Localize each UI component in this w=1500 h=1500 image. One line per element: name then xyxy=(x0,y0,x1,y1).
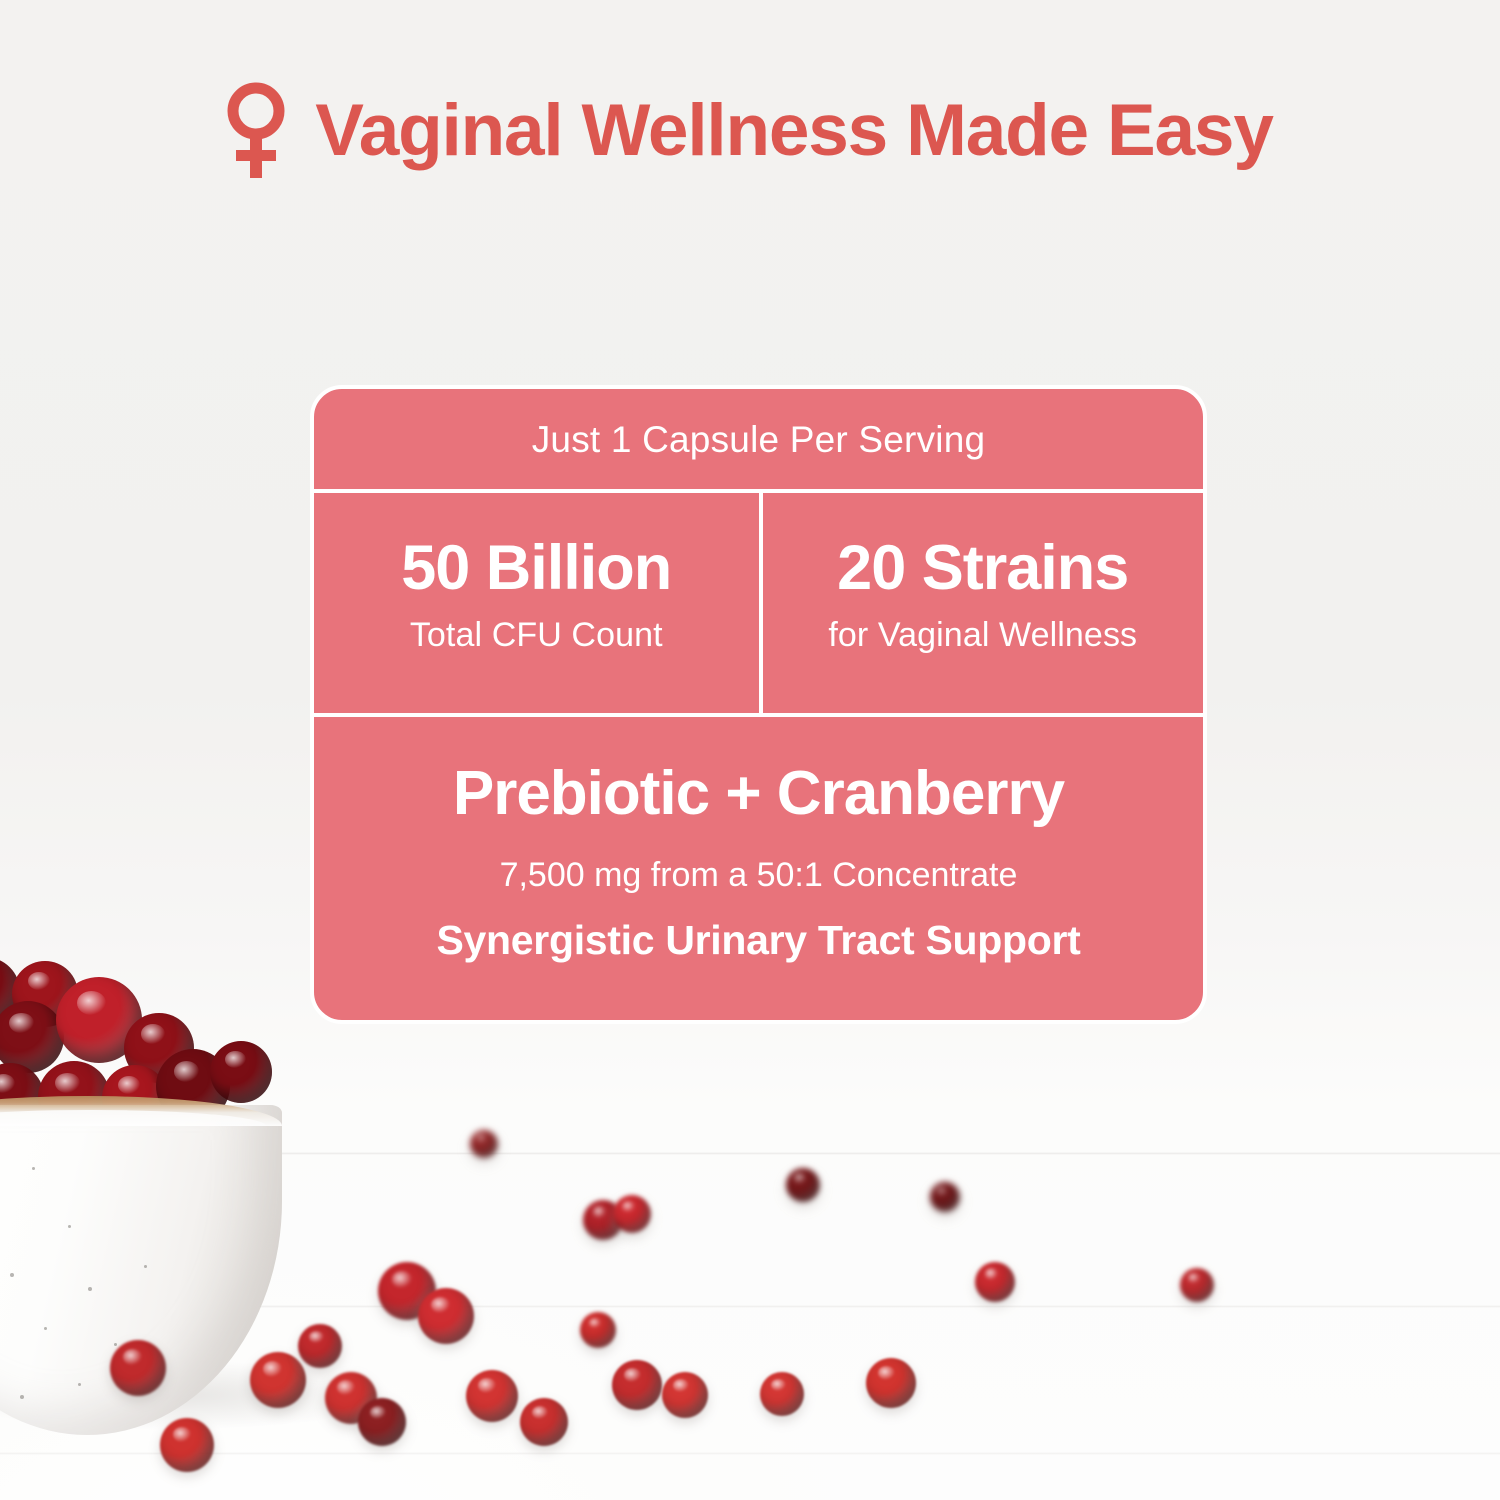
highlight-row: Prebiotic + Cranberry 7,500 mg from a 50… xyxy=(314,717,1203,1020)
highlight-subtitle: 7,500 mg from a 50:1 Concentrate xyxy=(338,856,1179,895)
highlight-title: Prebiotic + Cranberry xyxy=(338,761,1179,828)
highlight-emphasis: Synergistic Urinary Tract Support xyxy=(338,917,1179,964)
cranberry xyxy=(520,1398,568,1446)
cranberry xyxy=(580,1312,616,1348)
cranberry xyxy=(358,1398,406,1446)
cranberry xyxy=(760,1372,804,1416)
cranberry xyxy=(160,1418,214,1472)
cranberry xyxy=(466,1370,518,1422)
cranberry xyxy=(298,1324,342,1368)
cranberry xyxy=(418,1288,474,1344)
page-heading: Vaginal Wellness Made Easy xyxy=(0,82,1500,178)
cranberry xyxy=(110,1340,166,1396)
cranberry xyxy=(786,1168,820,1202)
stat-label: for Vaginal Wellness xyxy=(781,616,1186,655)
cranberry xyxy=(250,1352,306,1408)
cranberry xyxy=(866,1358,916,1408)
page-title: Vaginal Wellness Made Easy xyxy=(315,94,1272,167)
stat-value: 20 Strains xyxy=(781,535,1186,602)
cranberry xyxy=(612,1360,662,1410)
cranberry xyxy=(662,1372,708,1418)
serving-row: Just 1 Capsule Per Serving xyxy=(314,389,1203,489)
cranberry xyxy=(1180,1268,1214,1302)
cranberry xyxy=(470,1130,498,1158)
cranberry xyxy=(613,1195,651,1233)
stat-cell-strains: 20 Strains for Vaginal Wellness xyxy=(759,493,1204,713)
stat-value: 50 Billion xyxy=(332,535,741,602)
venus-female-symbol-icon xyxy=(227,82,285,178)
stat-label: Total CFU Count xyxy=(332,616,741,655)
stat-cell-cfu: 50 Billion Total CFU Count xyxy=(314,493,759,713)
cranberry xyxy=(930,1182,960,1212)
cranberry xyxy=(975,1262,1015,1302)
stats-row: 50 Billion Total CFU Count 20 Strains fo… xyxy=(314,493,1203,713)
product-highlights-card: Just 1 Capsule Per Serving 50 Billion To… xyxy=(310,385,1207,1024)
